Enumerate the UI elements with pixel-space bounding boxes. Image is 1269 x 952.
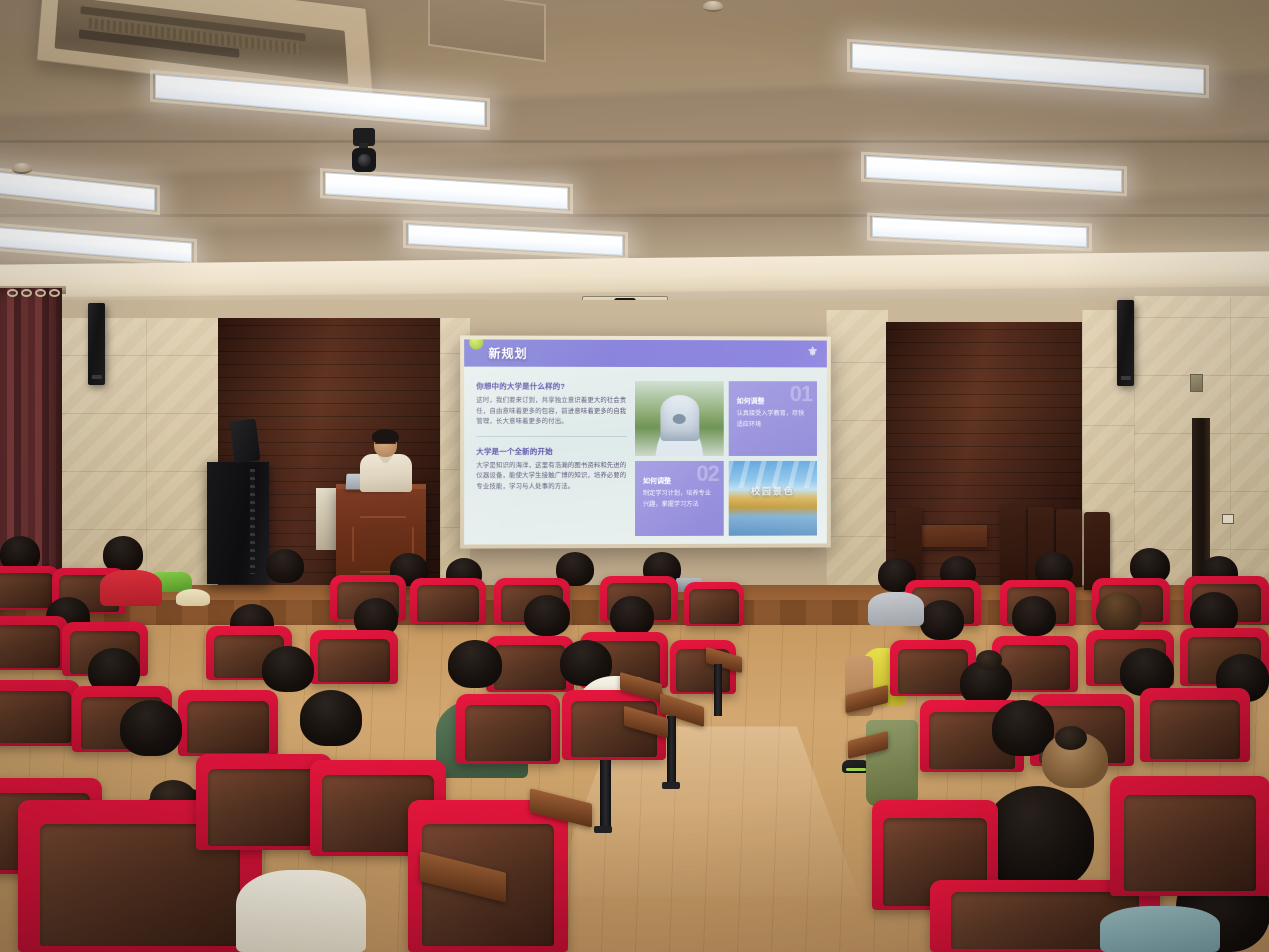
ceiling-light-panel	[852, 43, 1204, 94]
university-emblem-icon: ⚜	[807, 344, 818, 358]
audience-head	[920, 600, 964, 640]
audience-shoulders	[1100, 906, 1220, 952]
slide-photo-campus-gate	[635, 381, 724, 456]
projection-screen: 新规划 ⚜ 你想中的大学是什么样的? 这时，我们要来订到，共享独立意识着更大的社…	[464, 339, 827, 544]
ceiling-seam-2	[0, 214, 1269, 217]
audience-head	[448, 640, 502, 688]
slide-card-02: 02 如何调整 制定学习计划，培养专业兴趣，掌握学习方法	[635, 461, 724, 536]
audience-head	[982, 786, 1094, 890]
slide-photo-lake-caption: 校园景色	[751, 484, 795, 497]
presenter-hair	[372, 429, 399, 444]
audience-head	[262, 646, 314, 692]
seat-pedestal	[600, 760, 611, 830]
side-table	[921, 525, 987, 547]
beige-cap-icon	[176, 589, 210, 606]
ceiling-seam-1	[0, 140, 1269, 143]
seat-back	[1150, 700, 1240, 759]
slide-header: 新规划 ⚜	[464, 339, 827, 367]
seat-back	[898, 649, 969, 694]
seat-back	[417, 585, 479, 622]
seat-back	[208, 769, 320, 846]
audience-head	[524, 595, 570, 636]
ceiling-access-panel	[428, 0, 546, 62]
auditorium-seat[interactable]	[0, 616, 68, 670]
ceiling	[0, 0, 1269, 272]
smoke-detector-icon	[12, 163, 32, 174]
auditorium-seat[interactable]	[1140, 688, 1250, 762]
slide-badge-dot-icon	[469, 339, 483, 349]
slide-heading-1: 你想中的大学是什么样的?	[476, 381, 627, 392]
audience-head	[266, 549, 304, 583]
audience-head	[1012, 596, 1056, 636]
smoke-detector-icon	[703, 1, 723, 12]
audience-head	[300, 690, 362, 746]
audience-hair-bun	[976, 650, 1002, 670]
slide-photo-campus-lake: 校园景色	[729, 461, 817, 536]
slide-divider	[476, 436, 627, 437]
av-equipment-rack	[207, 462, 269, 584]
slide-card-01-body: 认真接受入学教育，尽快适应环境	[737, 409, 809, 430]
projection-screen-frame: 新规划 ⚜ 你想中的大学是什么样的? 这时，我们要来订到，共享独立意识着更大的社…	[460, 335, 831, 548]
audience-head	[120, 700, 182, 756]
auditorium-seat[interactable]	[178, 690, 278, 756]
curtain-grommet	[7, 289, 18, 297]
auditorium-seat[interactable]	[0, 680, 80, 746]
slide-heading-2: 大学是一个全新的开始	[476, 446, 627, 457]
seat-pedestal-foot	[594, 826, 612, 833]
wall-outlet[interactable]	[1222, 514, 1234, 524]
slide-paragraph-2: 大学是知识的海洋，这里有浩瀚的图书资料和先进的仪器设备，能使大学生接触广博的知识…	[476, 461, 627, 493]
auditorium-seat[interactable]	[1110, 776, 1269, 896]
seat-pedestal	[714, 664, 722, 716]
slide-text-column: 你想中的大学是什么样的? 这时，我们要来订到，共享独立意识着更大的社会责任，自由…	[476, 381, 627, 537]
seat-back	[689, 589, 738, 624]
curtain-grommet	[35, 289, 46, 297]
ceiling-light-panel	[872, 217, 1087, 248]
audience-shoulders	[100, 570, 162, 606]
slide-paragraph-1: 这时，我们要来订到，共享独立意识着更大的社会责任，自由意味着更多的包容，前进意味…	[476, 396, 627, 428]
ceiling-light-panel	[866, 156, 1122, 192]
seat-pedestal	[667, 716, 676, 786]
slide-card-01: 01 如何调整 认真接受入学教育，尽快适应环境	[729, 381, 817, 456]
seat-back	[187, 701, 269, 754]
seat-back	[318, 639, 390, 682]
slide-card-01-number: 01	[790, 381, 812, 407]
ceiling-light-panel	[325, 172, 568, 209]
presenter	[358, 432, 414, 490]
audience-hair-bun	[1055, 726, 1087, 750]
camera-lens	[358, 154, 371, 167]
audience-head	[610, 596, 654, 636]
slide-body: 你想中的大学是什么样的? 这时，我们要来订到，共享独立意识着更大的社会责任，自由…	[464, 367, 827, 545]
stone-wall-right-of-screen	[826, 310, 888, 595]
seat-back	[0, 691, 71, 744]
seat-back	[0, 625, 60, 668]
wall-control-plate[interactable]	[1190, 374, 1203, 392]
wall-speaker-right	[1117, 300, 1134, 386]
slide-title: 新规划	[488, 345, 527, 362]
audience-bag	[866, 720, 918, 806]
wall-speaker-left	[88, 303, 105, 385]
lecture-hall-photo: 新规划 ⚜ 你想中的大学是什么样的? 这时，我们要来订到，共享独立意识着更大的社…	[0, 0, 1269, 952]
auditorium-seat[interactable]	[456, 694, 560, 764]
campus-gate-shape	[660, 395, 699, 441]
stage-monitor	[230, 419, 261, 464]
audience-shoulders	[868, 592, 924, 626]
stacked-chair	[1000, 505, 1026, 583]
security-camera-icon	[351, 128, 377, 172]
audience-shoulders	[236, 870, 366, 952]
presenter-glasses-icon	[375, 443, 396, 447]
seat-back	[494, 645, 566, 690]
ceiling-light-panel	[0, 223, 192, 262]
slide-card-02-number: 02	[696, 461, 718, 487]
auditorium-seat[interactable]	[684, 582, 744, 626]
ac-face	[55, 0, 348, 84]
ceiling-light-panel	[408, 224, 623, 256]
audience-head	[1096, 592, 1142, 633]
auditorium-seat[interactable]	[410, 578, 486, 624]
seat-back	[1124, 795, 1255, 891]
seat-pedestal-foot	[662, 782, 680, 789]
seat-back	[0, 573, 54, 608]
slide-card-02-body: 制定学习计划，培养专业兴趣，掌握学习方法	[643, 489, 716, 510]
auditorium-seat[interactable]	[310, 630, 398, 684]
curtain-grommet	[49, 289, 60, 297]
curtain-grommet	[21, 289, 32, 297]
slide-card-grid: 01 如何调整 认真接受入学教育，尽快适应环境 02 如何调整 制定学习计划，培…	[635, 381, 817, 536]
seat-back	[465, 705, 550, 761]
